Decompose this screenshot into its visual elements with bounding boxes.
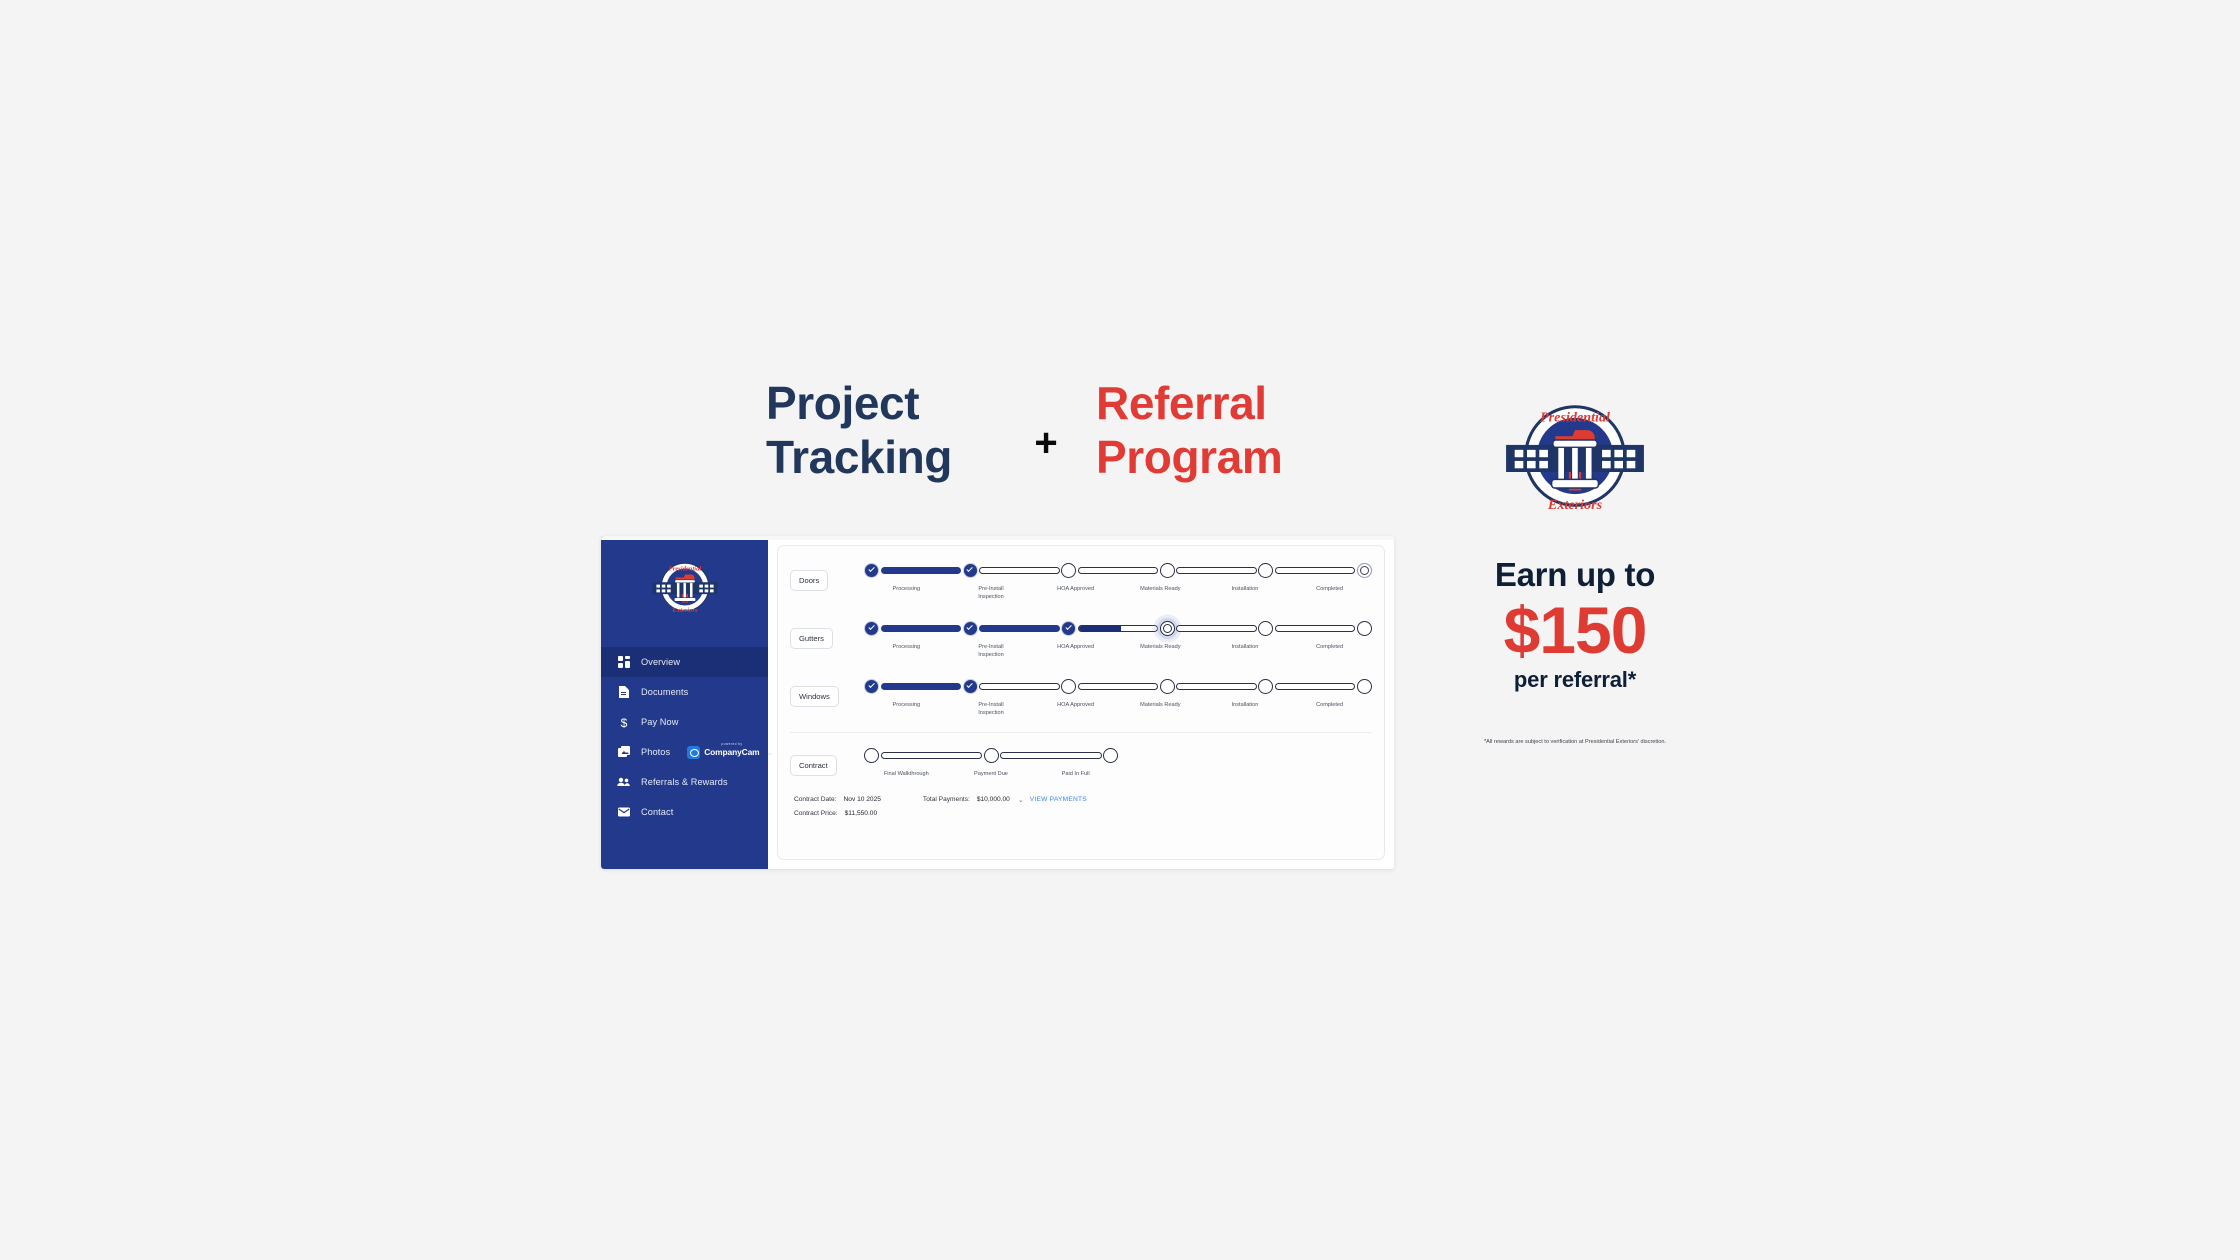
step-label: Pre-Install Inspection bbox=[949, 644, 1034, 659]
step-node-pending[interactable] bbox=[1258, 621, 1273, 636]
row-category-chip[interactable]: Contract bbox=[790, 755, 837, 776]
promo-amount: $150 bbox=[1470, 596, 1680, 665]
headline-right-line2: Program bbox=[1096, 430, 1326, 484]
step-label: Pre-Install Inspection bbox=[949, 586, 1034, 601]
sidebar-logo: Presidential Exteriors bbox=[601, 543, 768, 631]
step-node-done[interactable] bbox=[864, 563, 879, 578]
step-connector bbox=[1176, 683, 1257, 690]
document-icon bbox=[617, 686, 630, 699]
steps-track bbox=[864, 614, 1372, 642]
step-label: Processing bbox=[864, 644, 949, 659]
plus-separator: + bbox=[996, 397, 1096, 463]
sidebar-item-label: Pay Now bbox=[641, 717, 678, 727]
svg-text:Exteriors: Exteriors bbox=[671, 607, 698, 614]
svg-text:Presidential: Presidential bbox=[668, 565, 701, 572]
sidebar-item-label: Photos bbox=[641, 747, 670, 757]
step-label: Processing bbox=[864, 586, 949, 601]
row-chip-wrap: Contract bbox=[790, 741, 856, 776]
step-label: Completed bbox=[1287, 644, 1372, 659]
step-label: Paid In Full bbox=[1033, 771, 1118, 779]
step-label: Installation bbox=[1203, 644, 1288, 659]
contract-summary: Contract Date: Nov 10 2025 Total Payment… bbox=[790, 785, 1372, 820]
companycam-icon bbox=[687, 746, 700, 759]
step-connector bbox=[1176, 625, 1257, 632]
svg-text:Presidential: Presidential bbox=[1540, 410, 1610, 426]
row-chip-wrap: Doors bbox=[790, 556, 856, 591]
step-label: Payment Due bbox=[949, 771, 1034, 779]
presidential-exteriors-logo-large-icon: Presidential Exteriors bbox=[1495, 392, 1655, 520]
row-chip-wrap: Windows bbox=[790, 672, 856, 707]
step-connector bbox=[881, 683, 962, 690]
sidebar-item-label: Contact bbox=[641, 807, 673, 817]
step-connector bbox=[1078, 625, 1159, 632]
svg-text:Exteriors: Exteriors bbox=[1547, 497, 1603, 513]
main-panel: DoorsProcessingPre-Install InspectionHOA… bbox=[768, 536, 1394, 869]
sidebar: Presidential Exteriors bbox=[601, 536, 768, 869]
envelope-icon bbox=[617, 806, 630, 819]
steps-container: Final WalkthroughPayment DuePaid In Full bbox=[856, 741, 1372, 779]
step-label: Materials Ready bbox=[1118, 586, 1203, 601]
companycam-powered-by: powered by bbox=[721, 742, 742, 746]
companycam-text: powered by CompanyCam bbox=[704, 747, 759, 757]
step-label: Completed bbox=[1287, 702, 1372, 717]
contract-price-label: Contract Price: bbox=[794, 808, 838, 821]
headline-left-line2: Tracking bbox=[766, 430, 996, 484]
sidebar-item-documents[interactable]: Documents bbox=[601, 677, 768, 707]
step-label: Materials Ready bbox=[1118, 702, 1203, 717]
total-payments-label: Total Payments: bbox=[923, 794, 970, 807]
step-connector bbox=[1275, 567, 1356, 574]
headline-left: Project Tracking bbox=[766, 376, 996, 485]
row-category-chip[interactable]: Gutters bbox=[790, 628, 833, 649]
step-node-pending[interactable] bbox=[1258, 679, 1273, 694]
step-label: Final Walkthrough bbox=[864, 771, 949, 779]
step-label: Materials Ready bbox=[1118, 644, 1203, 659]
sidebar-nav: Overview Documents $ bbox=[601, 647, 768, 827]
step-node-pending[interactable] bbox=[1357, 679, 1372, 694]
project-tracker-card: DoorsProcessingPre-Install InspectionHOA… bbox=[777, 545, 1385, 860]
step-label: Installation bbox=[1203, 702, 1288, 717]
total-payments-value: $10,000.00 bbox=[977, 794, 1010, 807]
steps-track bbox=[864, 556, 1372, 584]
step-node-done[interactable] bbox=[963, 679, 978, 694]
presidential-exteriors-logo-icon: Presidential Exteriors bbox=[649, 556, 721, 618]
step-node-done[interactable] bbox=[963, 563, 978, 578]
step-node-pending[interactable] bbox=[1160, 679, 1175, 694]
svg-text:$: $ bbox=[620, 716, 627, 729]
headline-right: Referral Program bbox=[1096, 376, 1326, 485]
sidebar-item-pay-now[interactable]: $ Pay Now bbox=[601, 707, 768, 737]
steps-track bbox=[864, 741, 1118, 769]
photo-stack-icon bbox=[617, 746, 630, 759]
chevron-down-icon[interactable]: ⌄ bbox=[1018, 794, 1024, 808]
steps-labels: ProcessingPre-Install InspectionHOA Appr… bbox=[864, 702, 1372, 717]
tracker-row: WindowsProcessingPre-Install InspectionH… bbox=[790, 672, 1372, 730]
step-node-done[interactable] bbox=[1061, 621, 1076, 636]
step-connector bbox=[1000, 752, 1102, 759]
step-node-locked[interactable] bbox=[1357, 563, 1372, 578]
step-label: Processing bbox=[864, 702, 949, 717]
step-connector bbox=[1078, 683, 1159, 690]
step-connector bbox=[979, 683, 1060, 690]
promo-disclaimer: *All rewards are subject to verification… bbox=[1470, 739, 1680, 745]
step-connector bbox=[979, 625, 1060, 632]
chevron-down-icon[interactable]: ⌄ bbox=[767, 748, 774, 757]
contract-price-line: Contract Price: $11,550.00 bbox=[794, 808, 1368, 821]
step-connector bbox=[1275, 625, 1356, 632]
step-node-done[interactable] bbox=[864, 621, 879, 636]
step-label: Installation bbox=[1203, 586, 1288, 601]
step-node-pending[interactable] bbox=[1061, 563, 1076, 578]
steps-labels: ProcessingPre-Install InspectionHOA Appr… bbox=[864, 586, 1372, 601]
step-connector bbox=[881, 567, 962, 574]
tracker-row: ContractFinal WalkthroughPayment DuePaid… bbox=[790, 733, 1372, 785]
sidebar-item-overview[interactable]: Overview bbox=[601, 647, 768, 677]
step-connector bbox=[1275, 683, 1356, 690]
tracker-row: DoorsProcessingPre-Install InspectionHOA… bbox=[790, 556, 1372, 614]
step-label: Completed bbox=[1287, 586, 1372, 601]
headline-right-line1: Referral bbox=[1096, 376, 1326, 430]
steps-labels: ProcessingPre-Install InspectionHOA Appr… bbox=[864, 644, 1372, 659]
steps-container: ProcessingPre-Install InspectionHOA Appr… bbox=[856, 672, 1372, 717]
connector-fill bbox=[1078, 625, 1121, 632]
sidebar-item-label: Overview bbox=[641, 657, 680, 667]
sidebar-item-referrals-rewards[interactable]: Referrals & Rewards bbox=[601, 767, 768, 797]
step-label: HOA Approved bbox=[1033, 586, 1118, 601]
steps-labels: Final WalkthroughPayment DuePaid In Full bbox=[864, 771, 1118, 779]
row-category-chip[interactable]: Windows bbox=[790, 686, 839, 707]
sidebar-item-label: Referrals & Rewards bbox=[641, 777, 728, 787]
contract-price-value: $11,550.00 bbox=[845, 808, 878, 821]
view-payments-link[interactable]: VIEW PAYMENTS bbox=[1030, 794, 1087, 807]
step-node-pending[interactable] bbox=[1103, 748, 1118, 763]
promo-per-referral: per referral* bbox=[1470, 667, 1680, 693]
companycam-name: CompanyCam bbox=[704, 747, 759, 757]
step-connector bbox=[881, 752, 983, 759]
steps-track bbox=[864, 672, 1372, 700]
step-label: HOA Approved bbox=[1033, 644, 1118, 659]
step-node-pending[interactable] bbox=[1160, 563, 1175, 578]
tracker-row: GuttersProcessingPre-Install InspectionH… bbox=[790, 614, 1372, 672]
sidebar-item-photos[interactable]: Photos powered by CompanyCam ⌄ bbox=[601, 737, 768, 767]
row-category-chip[interactable]: Doors bbox=[790, 570, 828, 591]
step-connector bbox=[979, 567, 1060, 574]
headline-block: Project Tracking + Referral Program bbox=[766, 375, 1326, 485]
row-chip-wrap: Gutters bbox=[790, 614, 856, 649]
companycam-badge[interactable]: powered by CompanyCam ⌄ bbox=[687, 746, 773, 759]
contract-date-value: Nov 10 2025 bbox=[844, 794, 881, 807]
sidebar-item-contact[interactable]: Contact bbox=[601, 797, 768, 827]
step-connector bbox=[1078, 567, 1159, 574]
people-icon bbox=[617, 776, 630, 789]
step-node-current[interactable] bbox=[1160, 621, 1175, 636]
step-node-pending[interactable] bbox=[1061, 679, 1076, 694]
dashboard-grid-icon bbox=[617, 656, 630, 669]
page-canvas: Project Tracking + Referral Program bbox=[0, 0, 2240, 1260]
step-label: HOA Approved bbox=[1033, 702, 1118, 717]
sidebar-item-label: Documents bbox=[641, 687, 688, 697]
referral-promo: Presidential Exteriors Earn up to $150 p… bbox=[1470, 392, 1680, 745]
steps-container: ProcessingPre-Install InspectionHOA Appr… bbox=[856, 614, 1372, 659]
step-connector bbox=[1176, 567, 1257, 574]
step-node-pending[interactable] bbox=[984, 748, 999, 763]
step-node-done[interactable] bbox=[963, 621, 978, 636]
steps-container: ProcessingPre-Install InspectionHOA Appr… bbox=[856, 556, 1372, 601]
contract-date-label: Contract Date: bbox=[794, 794, 837, 807]
window-top-strip bbox=[601, 536, 1394, 540]
dollar-icon: $ bbox=[617, 716, 630, 729]
step-connector bbox=[881, 625, 962, 632]
step-label: Pre-Install Inspection bbox=[949, 702, 1034, 717]
step-node-pending[interactable] bbox=[864, 748, 879, 763]
step-node-pending[interactable] bbox=[1357, 621, 1372, 636]
step-node-pending[interactable] bbox=[1258, 563, 1273, 578]
promo-earn-text: Earn up to bbox=[1470, 556, 1680, 594]
step-node-done[interactable] bbox=[864, 679, 879, 694]
headline-left-line1: Project bbox=[766, 376, 996, 430]
contract-date-line: Contract Date: Nov 10 2025 Total Payment… bbox=[794, 794, 1368, 808]
tracker-rows: DoorsProcessingPre-Install InspectionHOA… bbox=[790, 556, 1372, 785]
app-window: Presidential Exteriors bbox=[601, 536, 1394, 869]
